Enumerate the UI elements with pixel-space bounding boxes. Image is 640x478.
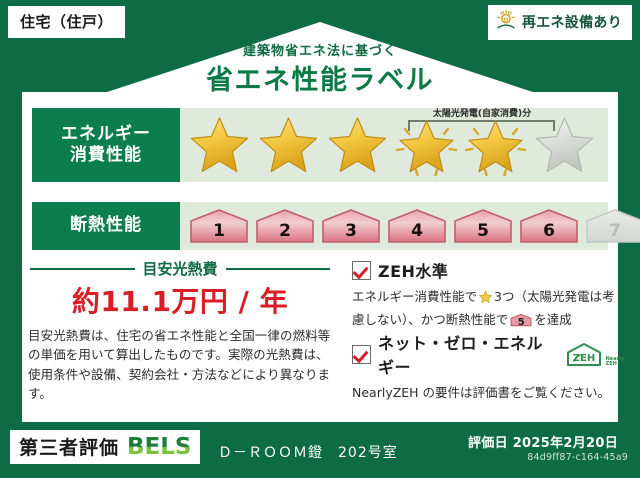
insulation-grade-7-label: 7: [584, 221, 640, 241]
insulation-grade-3: 3: [320, 208, 382, 244]
zeh-logo: ZEH Nearly ZEH: [564, 341, 624, 367]
cost-heading: 目安光熱費: [143, 258, 218, 279]
renewable-energy-badge: D 再エネ設備あり: [488, 5, 632, 40]
insulation-grade-6-label: 6: [518, 221, 580, 241]
criterion-zeh-heading: ZEH水準: [352, 258, 616, 282]
checkbox-checked-icon: [352, 261, 371, 280]
insulation-performance-row: 断熱性能: [32, 202, 608, 250]
zeh-logo-sub: Nearly ZEH: [606, 357, 624, 368]
checkbox-checked-icon-2: [352, 345, 371, 364]
criterion-net-zero-energy: ネット・ゼロ・エネルギー ZEH Nearly ZEH NearlyZEH の要…: [352, 330, 624, 403]
evaluation-date: 評価日 2025年2月20日: [458, 432, 628, 451]
insulation-grade-5: 5: [452, 208, 514, 244]
cost-value: 約11.1万円 / 年: [30, 280, 330, 320]
insulation-performance-caption: 断熱性能: [32, 202, 180, 250]
insulation-grade-3-label: 3: [320, 221, 382, 241]
footer-bar: 第三者評価 BELS Ｄ－ＲＯＯＭ鐙 202号室 評価日 2025年2月20日 …: [0, 422, 640, 478]
energy-caption-line1: エネルギー: [61, 124, 151, 145]
renewable-badge-label: 再エネ設備あり: [522, 12, 622, 32]
inline-house-grade-label: 5: [510, 315, 532, 331]
label-subtitle: 建築物省エネ法に基づく: [0, 40, 640, 59]
criterion-zeh-star-count: 3つ: [494, 289, 514, 304]
cost-note: 目安光熱費は、住宅の省エネ性能と全国一律の燃料等の単価を用いて算出したものです。…: [28, 326, 336, 404]
energy-performance-label: 住宅（住戸） D 再エネ設備あり 建築物省エネ法に基づく 省エネ性: [0, 0, 640, 478]
bels-logo: BELS: [127, 434, 191, 460]
zeh-logo-sub-line2: ZEH: [606, 361, 617, 367]
zeh-house-icon: ZEH: [564, 341, 604, 367]
insulation-grade-4-label: 4: [386, 221, 448, 241]
criterion-zeh-title: ZEH水準: [378, 258, 448, 282]
criterion-zeh-text: エネルギー消費性能で3つ（太陽光発電は考慮しない）、かつ断熱性能で5を達成: [352, 287, 616, 330]
insulation-grade-4: 4: [386, 208, 448, 244]
star-filled-2: [255, 113, 322, 177]
energy-performance-stars-panel: 太陽光発電(自家消費)分: [180, 108, 608, 182]
star-rating: [180, 108, 608, 182]
inline-star-icon: [478, 290, 493, 310]
insulation-grade-2: 2: [254, 208, 316, 244]
insulation-grade-panel: 1 2 3 4: [180, 202, 608, 250]
property-name: Ｄ－ＲＯＯＭ鐙 202号室: [218, 442, 398, 462]
criterion-nze-title: ネット・ゼロ・エネルギー: [378, 330, 553, 378]
third-party-label: 第三者評価: [19, 433, 119, 460]
evaluation-id: 84d9ff87-c164-45a9: [458, 452, 628, 463]
star-filled-1: [186, 113, 253, 177]
svg-text:ZEH: ZEH: [572, 353, 594, 364]
cost-rule-right: [226, 268, 331, 270]
inline-house-grade-icon: 5: [510, 312, 532, 328]
insulation-grade-6: 6: [518, 208, 580, 244]
insulation-grade-2-label: 2: [254, 221, 316, 241]
insulation-grade-1-label: 1: [188, 221, 250, 241]
insulation-grade-scale: 1 2 3 4: [180, 202, 608, 250]
cost-rule-left: [30, 268, 135, 270]
star-filled-solar-5: [462, 113, 529, 177]
star-filled-solar-4: [393, 113, 460, 177]
sun-icon: D: [495, 9, 517, 35]
svg-text:D: D: [504, 17, 509, 23]
insulation-grade-5-label: 5: [452, 221, 514, 241]
star-empty-6: [531, 113, 598, 177]
insulation-grade-1: 1: [188, 208, 250, 244]
cost-heading-row: 目安光熱費: [30, 258, 330, 279]
criterion-zeh-text-part3: を達成: [534, 312, 572, 327]
criterion-zeh-level: ZEH水準 エネルギー消費性能で3つ（太陽光発電は考慮しない）、かつ断熱性能で5…: [352, 258, 616, 330]
energy-caption-line2: 消費性能: [61, 145, 151, 166]
building-type-tag: 住宅（住戸）: [8, 6, 125, 38]
bels-tag: 第三者評価 BELS: [10, 430, 200, 464]
insulation-grade-7: 7: [584, 208, 640, 244]
label-title: 省エネ性能ラベル: [0, 58, 640, 97]
star-filled-3: [324, 113, 391, 177]
criterion-zeh-text-part1: エネルギー消費性能で: [352, 289, 477, 304]
energy-performance-caption: エネルギー 消費性能: [32, 108, 180, 182]
criterion-nze-text: NearlyZEH の要件は評価書をご覧ください。: [352, 383, 624, 403]
criterion-nze-heading: ネット・ゼロ・エネルギー ZEH Nearly ZEH: [352, 330, 624, 378]
energy-performance-row: エネルギー 消費性能 太陽光発電(自家消費)分: [32, 108, 608, 182]
